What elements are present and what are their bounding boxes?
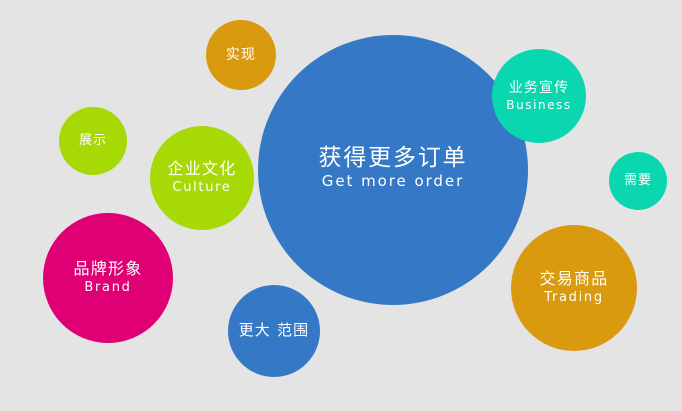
bubble-display[interactable]: 展示 xyxy=(59,107,127,175)
bubble-label-cn: 品牌形象 xyxy=(73,260,142,279)
bubble-label-cn: 企业文化 xyxy=(167,160,236,179)
bubble-label-en: Brand xyxy=(84,280,131,295)
bubble-label-cn: 需要 xyxy=(624,173,652,188)
bubble-label-cn: 更大 范围 xyxy=(239,322,310,340)
bubble-diagram-canvas: 获得更多订单Get more order品牌形象Brand交易商品Trading… xyxy=(0,0,682,411)
bubble-label-en: Culture xyxy=(172,180,231,195)
bubble-realize[interactable]: 实现 xyxy=(206,20,276,90)
bubble-label-en: Business xyxy=(506,98,571,112)
bubble-label-cn: 实现 xyxy=(226,47,256,64)
bubble-label-cn: 业务宣传 xyxy=(509,80,569,97)
bubble-label-cn: 交易商品 xyxy=(539,270,608,289)
bubble-brand[interactable]: 品牌形象Brand xyxy=(43,213,173,343)
bubble-label-en: Get more order xyxy=(322,173,464,191)
bubble-label-cn: 展示 xyxy=(79,133,107,148)
bubble-trading[interactable]: 交易商品Trading xyxy=(511,225,637,351)
bubble-culture[interactable]: 企业文化Culture xyxy=(150,126,254,230)
bubble-get-more-order[interactable]: 获得更多订单Get more order xyxy=(258,35,528,305)
bubble-bigger-scope[interactable]: 更大 范围 xyxy=(228,285,320,377)
bubble-need[interactable]: 需要 xyxy=(609,152,667,210)
bubble-label-en: Trading xyxy=(544,290,604,305)
bubble-business[interactable]: 业务宣传Business xyxy=(492,49,586,143)
bubble-label-cn: 获得更多订单 xyxy=(318,145,467,172)
